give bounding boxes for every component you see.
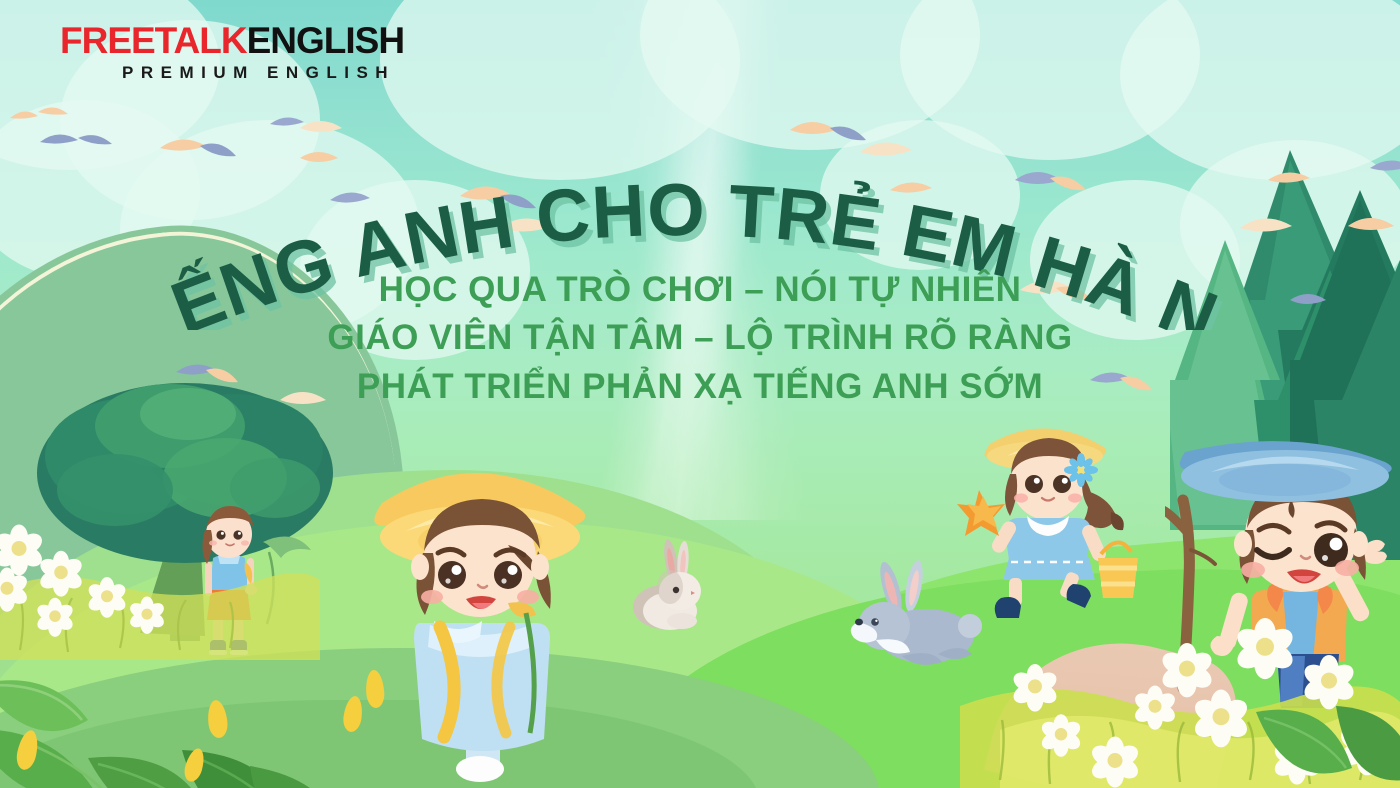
daisy-flower [0, 568, 27, 607]
rabbit-sitting [628, 535, 718, 630]
daisy-flower [1014, 664, 1056, 706]
logo-english-text: ENGLISH [247, 20, 404, 61]
daisy-flower [0, 525, 42, 570]
daisy-flower [1238, 618, 1292, 672]
girl-with-star [935, 412, 1150, 627]
daisy-flower [1136, 686, 1175, 725]
daisy-flower [38, 598, 73, 633]
daisy-flower [41, 551, 82, 592]
bucket [1098, 542, 1138, 598]
brand-logo[interactable]: FREETALKENGLISH PREMIUM ENGLISH [60, 22, 404, 83]
foreground-leaves-right [1250, 672, 1400, 788]
logo-tagline: PREMIUM ENGLISH [122, 63, 404, 83]
daisy-flower [1093, 737, 1138, 782]
subheadline-line-3: PHÁT TRIỂN PHẢN XẠ TIẾNG ANH SỚM [0, 363, 1400, 411]
logo-wordmark: FREETALKENGLISH [60, 22, 404, 59]
daisy-flower [131, 597, 164, 630]
daisy-flower [89, 577, 125, 613]
daisy-flower [1042, 714, 1080, 752]
daisy-flower [1163, 643, 1211, 691]
subheadline-group: HỌC QUA TRÒ CHƠI – NÓI TỰ NHIÊN GIÁO VIÊ… [0, 266, 1400, 411]
subheadline-line-2: GIÁO VIÊN TẬN TÂM – LỘ TRÌNH RÕ RÀNG [0, 314, 1400, 362]
subheadline-line-1: HỌC QUA TRÒ CHƠI – NÓI TỰ NHIÊN [0, 266, 1400, 314]
promo-banner: FREETALKENGLISH PREMIUM ENGLISH TIẾNG AN… [0, 0, 1400, 788]
logo-freetalk-text: FREETALK [60, 20, 247, 61]
daisy-flower [1196, 690, 1247, 741]
